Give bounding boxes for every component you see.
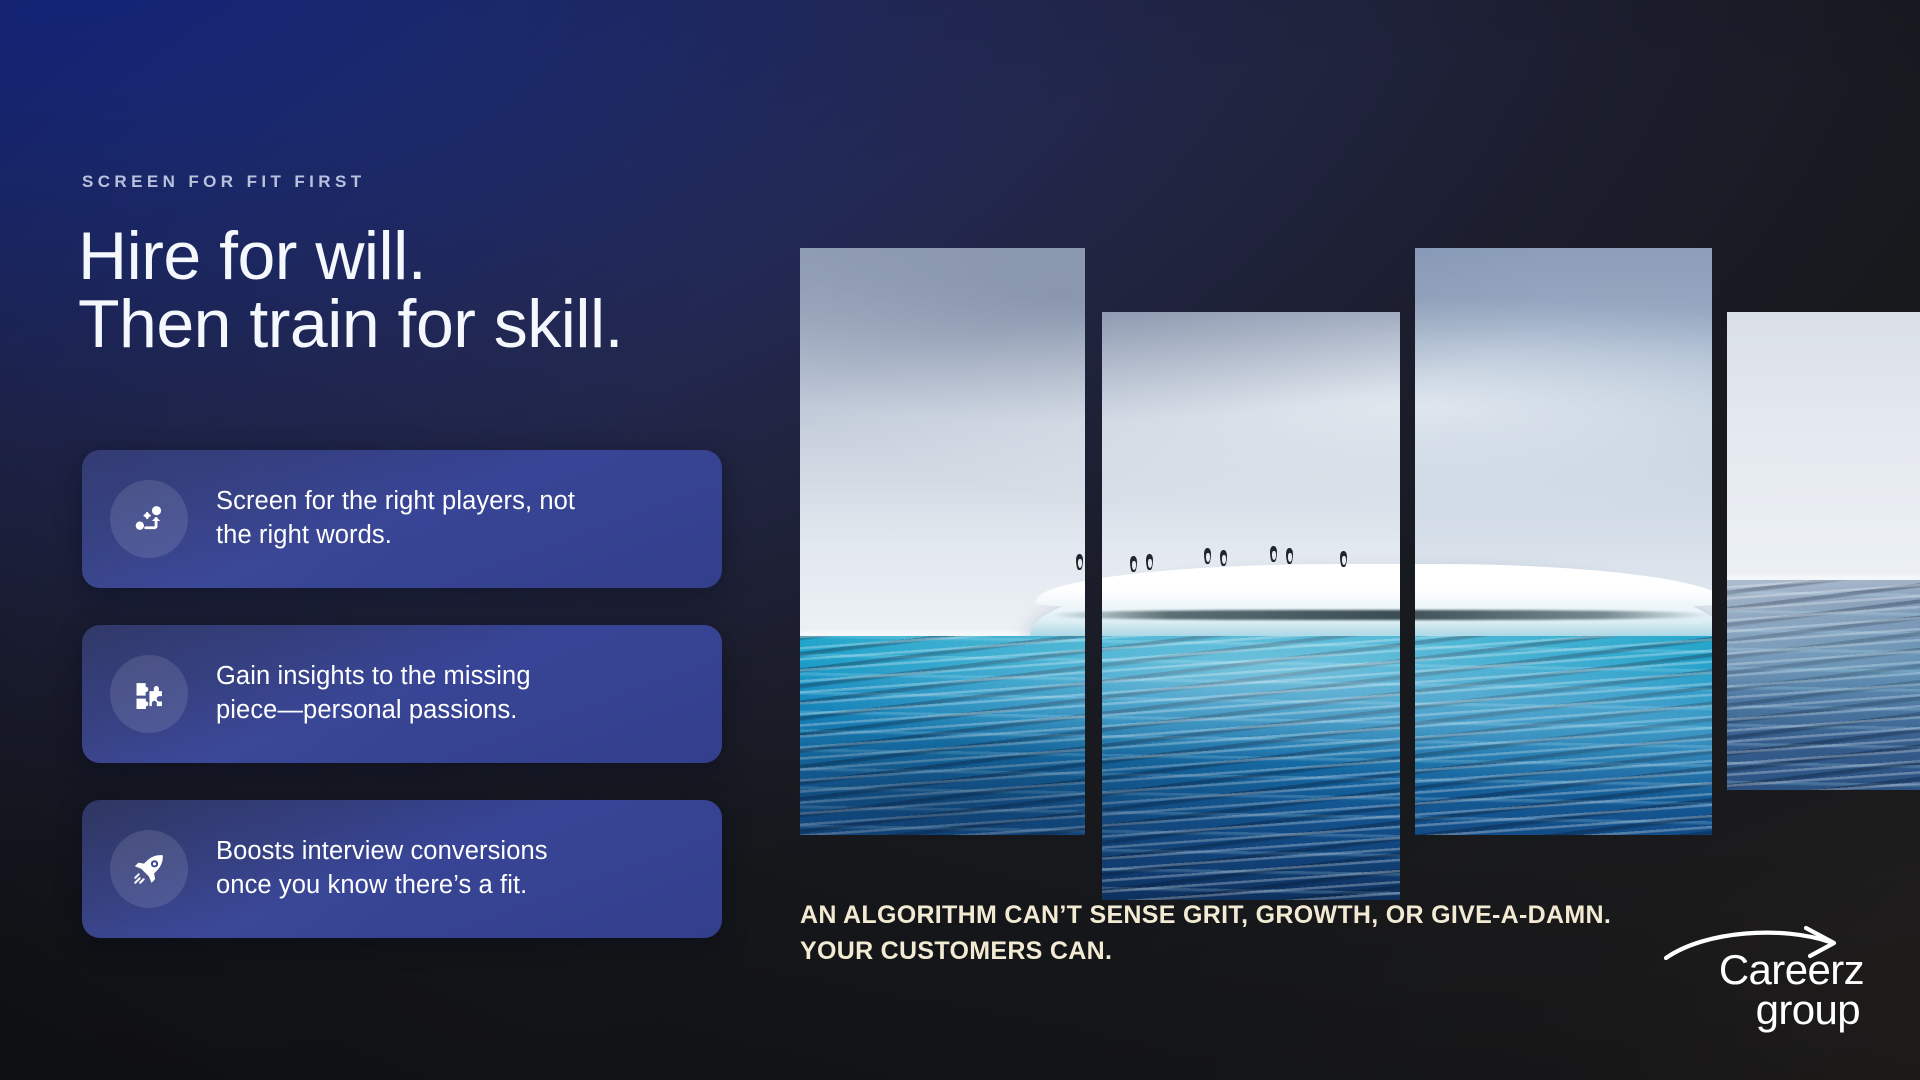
left-content-column: SCREEN FOR FIT FIRST Hire for will. Then… bbox=[82, 0, 782, 1080]
slide-canvas: SCREEN FOR FIT FIRST Hire for will. Then… bbox=[0, 0, 1920, 1080]
feature-card-text: Gain insights to the missing piece—perso… bbox=[216, 660, 531, 728]
feature-card-list: Screen for the right players, not the ri… bbox=[82, 450, 722, 975]
feature-card-boosts-conversions[interactable]: Boosts interview conversions once you kn… bbox=[82, 800, 722, 938]
footer-caption: AN ALGORITHM CAN’T SENSE GRIT, GROWTH, O… bbox=[800, 898, 1611, 969]
feature-card-missing-piece[interactable]: Gain insights to the missing piece—perso… bbox=[82, 625, 722, 763]
gallery-panel-4 bbox=[1727, 312, 1920, 790]
page-title: Hire for will. Then train for skill. bbox=[78, 222, 623, 358]
gallery-panel-1 bbox=[800, 248, 1085, 835]
eyebrow-label: SCREEN FOR FIT FIRST bbox=[82, 172, 366, 192]
brand-logo[interactable]: Careerz group bbox=[1634, 920, 1864, 1038]
gallery-panel-2 bbox=[1102, 312, 1400, 900]
feature-card-screen-players[interactable]: Screen for the right players, not the ri… bbox=[82, 450, 722, 588]
feature-card-text: Screen for the right players, not the ri… bbox=[216, 485, 575, 553]
feature-card-text: Boosts interview conversions once you kn… bbox=[216, 835, 548, 903]
gallery-panel-3 bbox=[1415, 248, 1712, 835]
brand-logo-word-2: group bbox=[1634, 986, 1864, 1034]
rocket-icon bbox=[110, 830, 188, 908]
strategy-play-icon bbox=[110, 480, 188, 558]
puzzle-piece-icon bbox=[110, 655, 188, 733]
